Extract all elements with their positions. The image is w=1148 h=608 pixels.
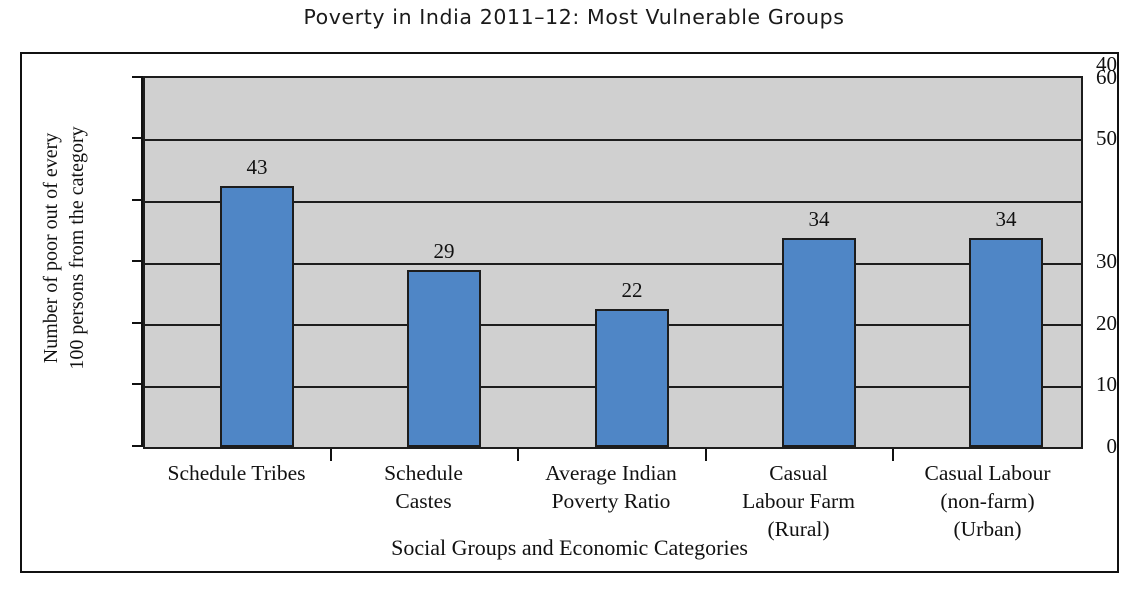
bar-value-average-indian-poverty: 22 bbox=[595, 280, 669, 301]
bar-value-schedule-castes: 29 bbox=[407, 241, 481, 262]
bar-schedule-tribes[interactable] bbox=[220, 186, 294, 447]
x-axis-tick-container: Schedule Tribes Schedule Castes Average … bbox=[143, 449, 1083, 549]
x-label-line: Casual Labour bbox=[892, 459, 1083, 487]
bar-schedule-castes[interactable] bbox=[407, 270, 481, 447]
y-tick-mark-30 bbox=[132, 260, 143, 262]
y-tick-mark-0 bbox=[132, 445, 143, 447]
bar-average-indian-poverty[interactable] bbox=[595, 309, 669, 447]
y-axis-title-line-2: 100 persons from the category bbox=[64, 58, 90, 438]
x-label-line: Schedule bbox=[330, 459, 517, 487]
x-label-casual-labour-nonfarm: Casual Labour (non-farm) (Urban) bbox=[892, 459, 1083, 543]
x-label-line: Schedule Tribes bbox=[143, 459, 330, 487]
y-axis-title-line-1: Number of poor out of every bbox=[38, 58, 64, 438]
y-tick-mark-40 bbox=[132, 199, 143, 201]
y-tick-mark-50 bbox=[132, 137, 143, 139]
chart-title: Poverty in India 2011–12: Most Vulnerabl… bbox=[0, 5, 1148, 29]
plot-area: 43 29 22 34 34 bbox=[143, 76, 1083, 449]
x-label-average-indian-poverty: Average Indian Poverty Ratio bbox=[517, 459, 705, 515]
x-label-line: Castes bbox=[330, 487, 517, 515]
y-tick-mark-20 bbox=[132, 322, 143, 324]
x-label-line: Labour Farm bbox=[705, 487, 892, 515]
gridline-50 bbox=[145, 139, 1081, 141]
y-tick-mark-10 bbox=[132, 383, 143, 385]
y-tick-label-40: 40 bbox=[1073, 54, 1117, 75]
bar-chart-figure: Poverty in India 2011–12: Most Vulnerabl… bbox=[0, 0, 1148, 608]
x-label-schedule-tribes: Schedule Tribes bbox=[143, 459, 330, 487]
bar-value-schedule-tribes: 43 bbox=[220, 157, 294, 178]
bar-casual-labour-farm[interactable] bbox=[782, 238, 856, 447]
y-tick-mark-60 bbox=[132, 76, 143, 78]
y-axis-title: Number of poor out of every 100 persons … bbox=[38, 58, 90, 438]
x-label-line: (non-farm) bbox=[892, 487, 1083, 515]
x-label-line: Average Indian bbox=[517, 459, 705, 487]
chart-frame: Number of poor out of every 100 persons … bbox=[20, 52, 1119, 573]
x-label-schedule-castes: Schedule Castes bbox=[330, 459, 517, 515]
x-axis-title: Social Groups and Economic Categories bbox=[22, 535, 1117, 561]
x-label-line: Poverty Ratio bbox=[517, 487, 705, 515]
bar-value-casual-labour-farm: 34 bbox=[782, 209, 856, 230]
x-label-casual-labour-farm: Casual Labour Farm (Rural) bbox=[705, 459, 892, 543]
bar-casual-labour-nonfarm[interactable] bbox=[969, 238, 1043, 447]
bar-value-casual-labour-nonfarm: 34 bbox=[969, 209, 1043, 230]
x-label-line: Casual bbox=[705, 459, 892, 487]
